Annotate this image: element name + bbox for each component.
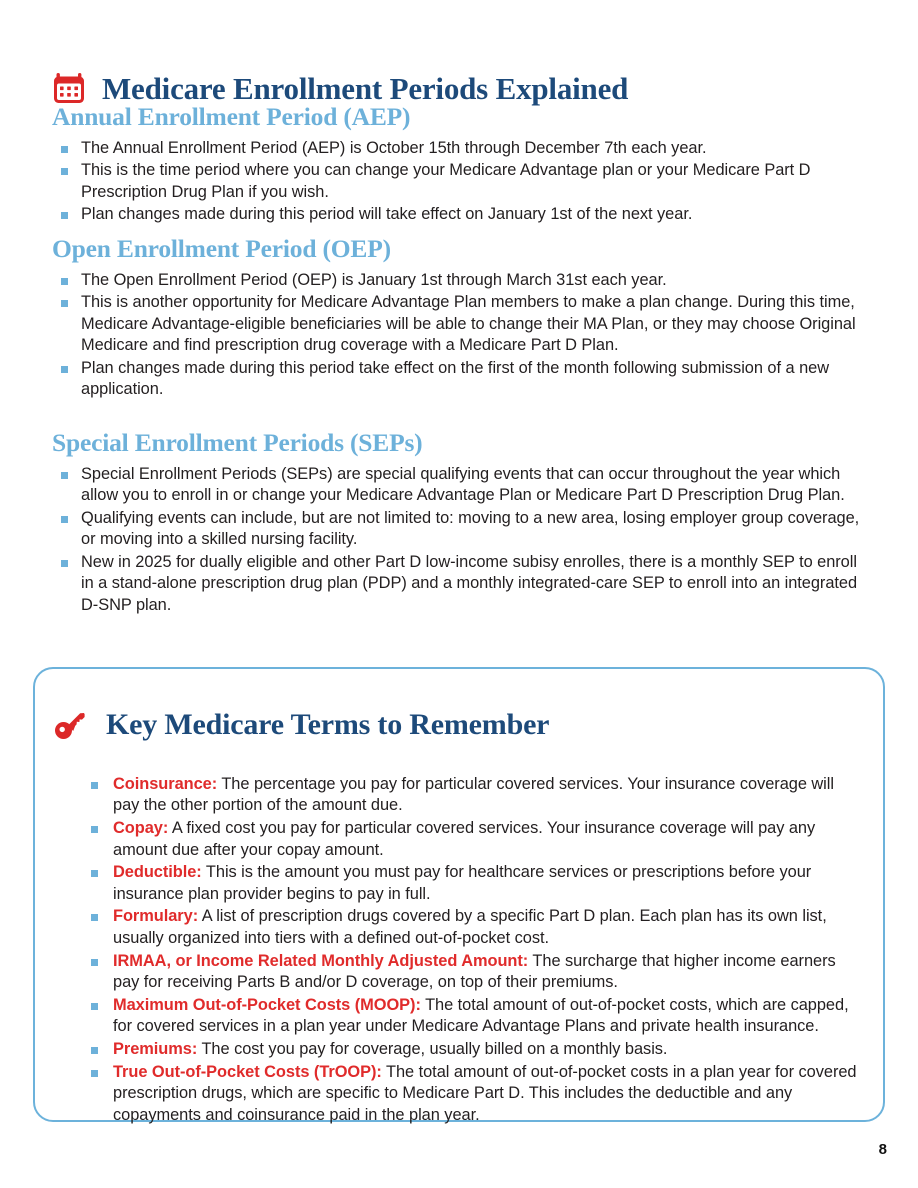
- list-item: The Annual Enrollment Period (AEP) is Oc…: [52, 138, 866, 160]
- list-item: Qualifying events can include, but are n…: [52, 508, 866, 551]
- list-item: Copay: A fixed cost you pay for particul…: [91, 818, 861, 861]
- bullet-list: The Open Enrollment Period (OEP) is Janu…: [52, 270, 866, 401]
- key-terms-list: Coinsurance: The percentage you pay for …: [35, 774, 883, 1127]
- list-item: Formulary: A list of prescription drugs …: [91, 906, 861, 949]
- term-label: Coinsurance:: [113, 775, 217, 793]
- list-item: Maximum Out-of-Pocket Costs (MOOP): The …: [91, 995, 861, 1038]
- list-item: Premiums: The cost you pay for coverage,…: [91, 1039, 861, 1061]
- term-definition: A list of prescription drugs covered by …: [113, 907, 827, 947]
- term-definition: This is the amount you must pay for heal…: [113, 863, 811, 903]
- list-item: Special Enrollment Periods (SEPs) are sp…: [52, 464, 866, 507]
- section-heading: Special Enrollment Periods (SEPs): [52, 430, 866, 457]
- section-open-enrollment-period: Open Enrollment Period (OEP) The Open En…: [52, 236, 866, 402]
- list-item: New in 2025 for dually eligible and othe…: [52, 552, 866, 617]
- key-terms-title: Key Medicare Terms to Remember: [106, 710, 549, 740]
- key-terms-card: Key Medicare Terms to Remember Coinsuran…: [33, 667, 885, 1122]
- list-item: The Open Enrollment Period (OEP) is Janu…: [52, 270, 866, 292]
- calendar-icon: [52, 71, 86, 105]
- document-page: Medicare Enrollment Periods Explained An…: [0, 0, 918, 1188]
- section-annual-enrollment-period: Annual Enrollment Period (AEP) The Annua…: [52, 104, 866, 227]
- term-label: Premiums:: [113, 1040, 197, 1058]
- section-heading: Open Enrollment Period (OEP): [52, 236, 866, 263]
- page-number: 8: [879, 1141, 887, 1158]
- list-item: True Out-of-Pocket Costs (TrOOP): The to…: [91, 1062, 861, 1127]
- list-item: Plan changes made during this period tak…: [52, 358, 866, 401]
- section-special-enrollment-periods: Special Enrollment Periods (SEPs) Specia…: [52, 430, 866, 617]
- term-label: Copay:: [113, 819, 168, 837]
- term-definition: The percentage you pay for particular co…: [113, 775, 834, 815]
- term-label: Deductible:: [113, 863, 202, 881]
- bullet-list: The Annual Enrollment Period (AEP) is Oc…: [52, 138, 866, 226]
- page-title: Medicare Enrollment Periods Explained: [102, 73, 628, 104]
- bullet-list: Special Enrollment Periods (SEPs) are sp…: [52, 464, 866, 617]
- section-heading: Annual Enrollment Period (AEP): [52, 104, 866, 131]
- list-item: This is the time period where you can ch…: [52, 160, 866, 203]
- list-item: Coinsurance: The percentage you pay for …: [91, 774, 861, 817]
- list-item: This is another opportunity for Medicare…: [52, 292, 866, 357]
- term-definition: A fixed cost you pay for particular cove…: [113, 819, 815, 859]
- list-item: IRMAA, or Income Related Monthly Adjuste…: [91, 951, 861, 994]
- key-icon: [54, 710, 88, 740]
- list-item: Deductible: This is the amount you must …: [91, 862, 861, 905]
- term-label: IRMAA, or Income Related Monthly Adjuste…: [113, 952, 528, 970]
- list-item: Plan changes made during this period wil…: [52, 204, 866, 226]
- term-label: Formulary:: [113, 907, 198, 925]
- key-terms-header: Key Medicare Terms to Remember: [35, 669, 883, 765]
- term-label: True Out-of-Pocket Costs (TrOOP):: [113, 1063, 382, 1081]
- term-definition: The cost you pay for coverage, usually b…: [197, 1040, 667, 1058]
- term-label: Maximum Out-of-Pocket Costs (MOOP):: [113, 996, 421, 1014]
